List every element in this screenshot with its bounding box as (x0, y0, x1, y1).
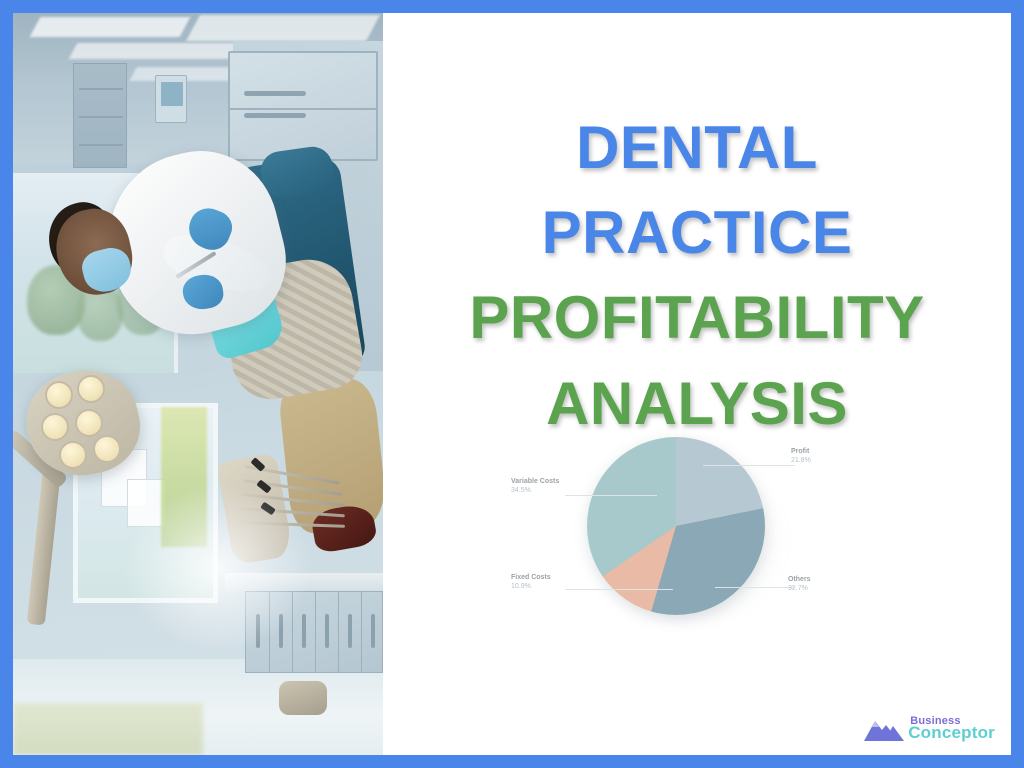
title-line-2: PRACTICE (383, 190, 1011, 275)
ceiling-light-panel (30, 17, 191, 37)
leader-line-profit (703, 465, 795, 466)
leader-line-fixed-costs (565, 589, 673, 590)
content-pane: DENTAL PRACTICE PROFITABILITY ANALYSIS P… (383, 13, 1011, 755)
wall-monitor (155, 75, 187, 123)
pie-label-others-pct: 32.7% (788, 584, 811, 593)
title-line-3: PROFITABILITY (383, 275, 1011, 360)
pie-label-profit-pct: 21.8% (791, 456, 811, 465)
dental-clinic-photo (13, 13, 383, 755)
shelf-line (79, 144, 123, 146)
drawer-handle (279, 614, 283, 648)
cabinet-handle (244, 113, 306, 118)
profitability-pie-chart: Profit 21.8% Others 32.7% Variable Costs… (503, 431, 983, 631)
pie-label-variable-costs: Variable Costs 34.5% (511, 477, 559, 496)
pie-label-variable-costs-pct: 34.5% (511, 486, 559, 495)
light-bulb (77, 375, 105, 403)
drawer-divider (338, 592, 339, 672)
pie-label-profit: Profit 21.8% (791, 447, 811, 466)
drawer-divider (269, 592, 270, 672)
drawer-handle (371, 614, 375, 648)
mountain-peaks-icon (862, 713, 906, 743)
drawer-divider (315, 592, 316, 672)
drawer-handle (256, 614, 260, 648)
pie-label-others: Others 32.7% (788, 575, 811, 594)
cabinet-handle (244, 91, 306, 96)
shelf-line (79, 116, 123, 118)
drawer-divider (361, 592, 362, 672)
leader-line-others (715, 587, 795, 588)
ceiling-light-panel (69, 43, 243, 59)
drawer-cabinet (245, 591, 383, 673)
light-bulb (93, 435, 121, 463)
leader-line-variable-costs (565, 495, 657, 496)
wall-cabinet (228, 51, 378, 161)
outdoor-greenery (13, 703, 203, 755)
ceiling-light-panel (186, 15, 380, 41)
shelf-line (79, 88, 123, 90)
title-line-1: DENTAL (383, 105, 1011, 190)
logo-wordmark: Business Conceptor (908, 716, 995, 741)
clinic-stool (279, 681, 327, 715)
light-bulb (59, 441, 87, 469)
pie-label-fixed-costs-pct: 10.9% (511, 582, 551, 591)
light-bulb (41, 413, 69, 441)
slide-canvas: DENTAL PRACTICE PROFITABILITY ANALYSIS P… (13, 13, 1011, 755)
slide-title: DENTAL PRACTICE PROFITABILITY ANALYSIS (383, 105, 1011, 446)
shelf-unit (73, 63, 127, 168)
light-arm (27, 464, 62, 625)
clinic-counter (225, 573, 383, 593)
photo-stage (13, 13, 383, 755)
light-bulb (45, 381, 73, 409)
drawer-handle (325, 614, 329, 648)
drawer-handle (348, 614, 352, 648)
pie-label-fixed-costs-name: Fixed Costs (511, 573, 551, 582)
business-conceptor-logo: Business Conceptor (862, 713, 995, 743)
pie-label-profit-name: Profit (791, 447, 811, 456)
logo-text-conceptor: Conceptor (908, 724, 995, 741)
pie-label-variable-costs-name: Variable Costs (511, 477, 559, 486)
slide-frame: DENTAL PRACTICE PROFITABILITY ANALYSIS P… (0, 0, 1024, 768)
pie-label-others-name: Others (788, 575, 811, 584)
outdoor-greenery (161, 407, 207, 547)
drawer-divider (292, 592, 293, 672)
pie-label-fixed-costs: Fixed Costs 10.9% (511, 573, 551, 592)
light-bulb (75, 409, 103, 437)
drawer-handle (302, 614, 306, 648)
